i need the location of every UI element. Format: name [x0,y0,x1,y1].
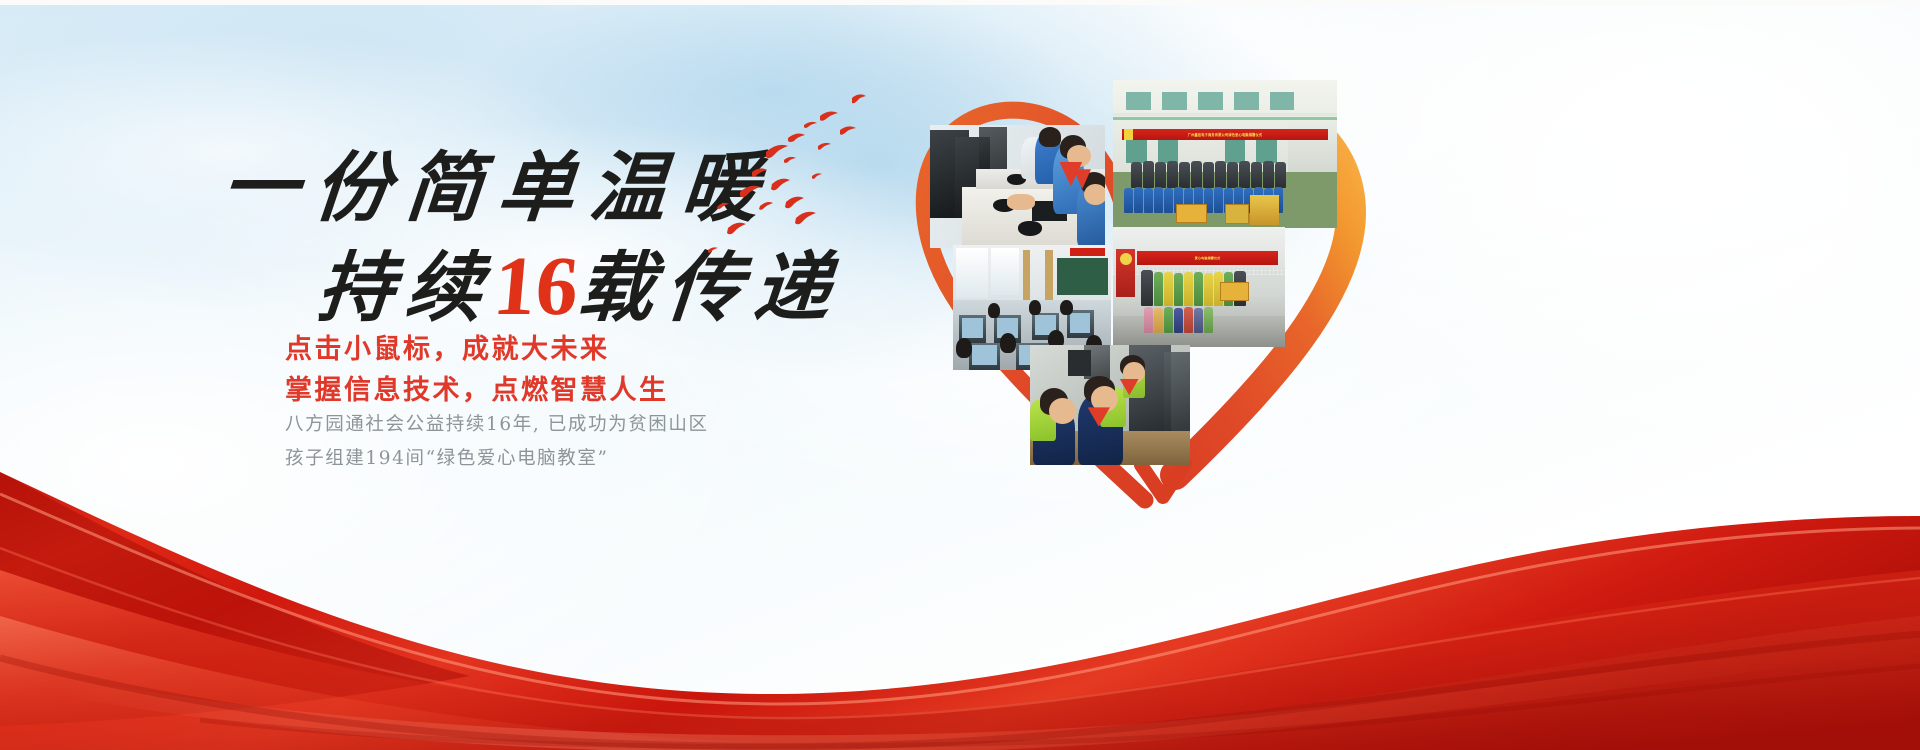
silk-wave-icon [0,420,1920,750]
headline-year-count: 16 [490,240,582,333]
headline-line-1-text: 一份简单温暖 [218,143,778,232]
donation-ceremony-banner: 广州鑫佳电子商务有限公司绿色爱心电脑捐赠仪式 [1122,129,1328,140]
photo-school-donation-ceremony: 广州鑫佳电子商务有限公司绿色爱心电脑捐赠仪式 [1113,80,1337,228]
subtitle: 点击小鼠标，成就大未来 掌握信息技术，点燃智慧人生 [285,330,669,411]
charity-banner: 一份简单温暖 持续16载传递 点击小鼠标，成就大未来 掌握信息技术，点燃智慧人生… [0,0,1920,750]
red-silk-wave [0,420,1920,750]
subtitle-line-2: 掌握信息技术，点燃智慧人生 [285,371,669,412]
photo-group-in-hall: 爱心电脑捐赠仪式 [1113,227,1285,347]
subtitle-line-1: 点击小鼠标，成就大未来 [285,330,669,371]
headline-line-2-prefix: 持续 [314,243,498,332]
photo-kids-at-computers [930,125,1105,248]
hall-banner: 爱心电脑捐赠仪式 [1137,251,1278,265]
